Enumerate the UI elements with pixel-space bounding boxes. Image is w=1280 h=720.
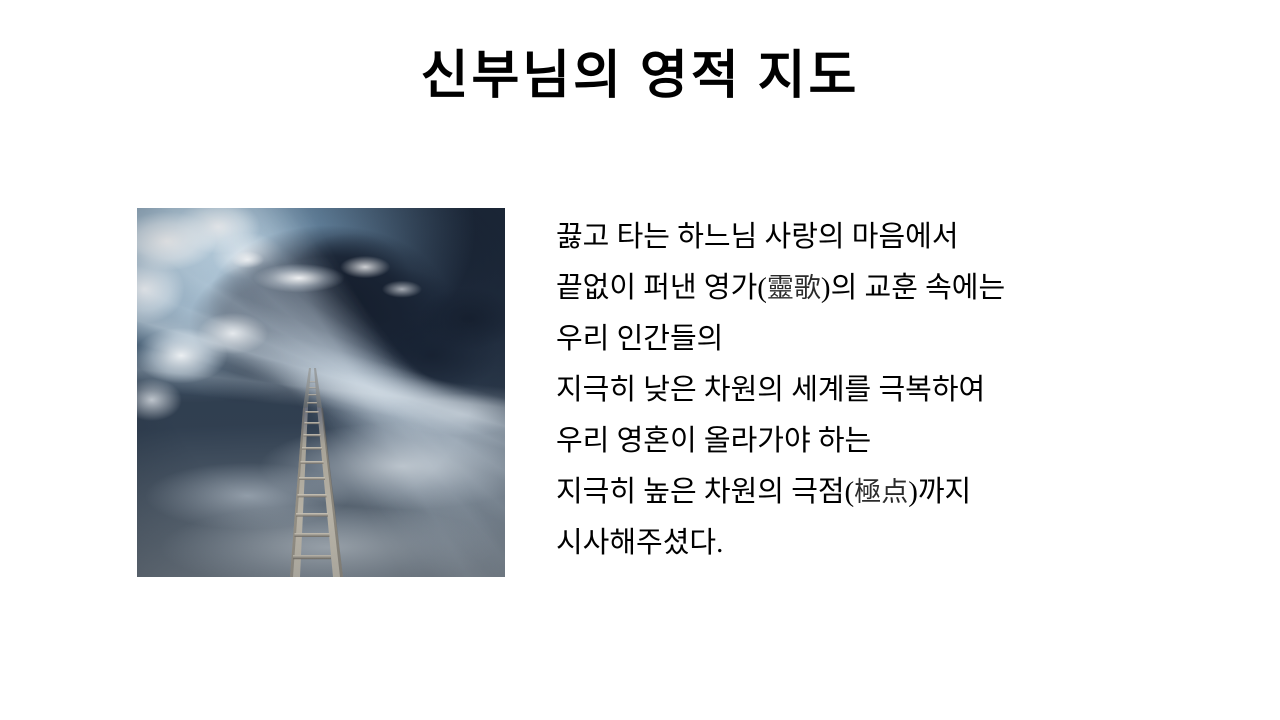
slide-canvas: 신부님의 영적 지도 xyxy=(0,0,1280,720)
body-line-6-post: )까지 xyxy=(908,476,971,508)
body-text-block: 끓고 타는 하느님 사랑의 마음에서 끝없이 퍼낸 영가(靈歌)의 교훈 속에는… xyxy=(556,212,1156,569)
ladder-to-sky-photo xyxy=(137,208,505,577)
body-line-2-pre: 끝없이 퍼낸 영가( xyxy=(556,272,767,304)
body-line-6-pre: 지극히 높은 차원의 극점( xyxy=(556,476,854,508)
photo-vignette xyxy=(137,208,505,577)
body-line-5: 우리 영혼이 올라가야 하는 xyxy=(556,416,1156,467)
body-line-2-post: )의 교훈 속에는 xyxy=(821,272,1005,304)
body-line-1: 끓고 타는 하느님 사랑의 마음에서 xyxy=(556,212,1156,263)
body-line-6: 지극히 높은 차원의 극점(極点)까지 xyxy=(556,467,1156,518)
hanja-geukjeom: 極点 xyxy=(854,477,908,508)
body-line-7: 시사해주셨다. xyxy=(556,518,1156,569)
page-title: 신부님의 영적 지도 xyxy=(0,46,1280,108)
body-line-3: 우리 인간들의 xyxy=(556,314,1156,365)
body-line-2: 끝없이 퍼낸 영가(靈歌)의 교훈 속에는 xyxy=(556,263,1156,314)
body-line-4: 지극히 낮은 차원의 세계를 극복하여 xyxy=(556,365,1156,416)
hanja-yeongga: 靈歌 xyxy=(767,273,821,304)
